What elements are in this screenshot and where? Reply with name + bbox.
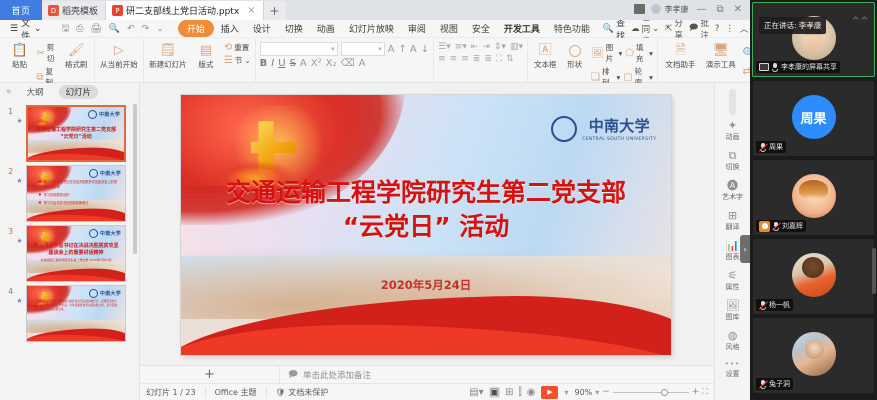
zoom-dropdown-icon[interactable]: ▾ — [595, 388, 599, 397]
slide-animation-marker: ★ — [15, 285, 24, 305]
close-window-button[interactable]: ✕ — [732, 4, 744, 15]
play-dropdown-icon[interactable]: ▾ — [564, 388, 568, 397]
collapse-pane-icon[interactable]: « — [6, 87, 12, 97]
zoom-track[interactable] — [613, 392, 689, 393]
participant-name-bar: 李孝康的屏幕共享 — [756, 61, 840, 73]
university-logo: 中南大学 — [88, 290, 121, 297]
play-from-current-button[interactable]: ▷ 从当前开始 — [99, 41, 139, 70]
participant-name: 兔子洞 — [769, 379, 790, 389]
rail-item-label: 属性 — [726, 282, 740, 292]
font-controls: ▾ ▾ A↑ A↓ B I U S A X² X₂ ⌫ A — [260, 41, 429, 69]
font-format-row: B I U S A X² X₂ ⌫ A — [260, 58, 429, 69]
participant-name-bar: 杨一帆 — [756, 299, 793, 311]
textbox-icon: 🄰 — [539, 43, 552, 58]
menu-bar: ☰ 文件 ⌄ 🖫 ⎙ 🖨 🔍 ↶ ↷ ⌄ 开始 插入 设计 切换 动画 — [0, 20, 750, 38]
slides-mini-group: ⟲ 重置 ☰ 节 ⌄ — [224, 41, 251, 66]
window-controls: 李孝康 — ⧉ ✕ — [634, 0, 750, 20]
share-label: 分享 — [674, 17, 683, 41]
list-item[interactable]: 1 ★ 中南大学 交通运输工程学院研究生第二党支部 “云党日”活动 — [0, 102, 139, 162]
thumb-bullet: 学习情景剧本创作 — [39, 193, 117, 198]
avatar: 周果 — [792, 95, 836, 139]
present-tools-button[interactable]: 🖥 演示工具 — [702, 41, 739, 70]
paste-button[interactable]: 📋 粘贴 — [6, 41, 33, 70]
tab-developer-tools[interactable]: 开发工具 — [497, 20, 547, 37]
app-mode-icon[interactable] — [634, 4, 645, 14]
tab-animation[interactable]: 动画 — [310, 20, 342, 37]
cloud-sync-icon: ☁ — [631, 24, 640, 34]
tab-design[interactable]: 设计 — [246, 20, 278, 37]
clipboard-mini-group: ✂ 剪切 ⧉ 复制 — [36, 41, 59, 88]
decrease-indent-icon[interactable]: ⇤ — [471, 42, 479, 52]
university-name: 中南大学 — [589, 115, 650, 136]
layout-icon: ▤ — [200, 43, 212, 58]
rail-item-label: 动画 — [726, 132, 740, 142]
paste-icon: 📋 — [12, 43, 28, 58]
present-tools-icon: 🖥 — [713, 43, 730, 58]
transition-icon: ⧉ — [729, 150, 737, 161]
cut-icon: ✂ — [36, 48, 44, 59]
comment-icon: 🗩 — [689, 22, 698, 36]
picture-button[interactable]: 🖼 图片▾ — [591, 42, 622, 64]
university-name-en: CENTRAL SOUTH UNIVERSITY — [582, 137, 656, 142]
bullets-icon[interactable]: ☰▾ — [438, 42, 451, 52]
rail-item-label: 图库 — [726, 312, 740, 322]
format-painter-icon: 🖌 — [68, 43, 85, 58]
search-icon: 🔍 — [603, 24, 614, 34]
reset-label: 重置 — [234, 42, 249, 53]
play-from-current-label: 从当前开始 — [100, 59, 138, 70]
reset-icon: ⟲ — [224, 42, 232, 53]
section-button[interactable]: ☰ 节 ⌄ — [224, 55, 251, 66]
avatar — [792, 253, 836, 297]
ribbon-group-slideshow: ▷ 从当前开始 — [95, 39, 144, 82]
participant-name-bar: 周果 — [756, 141, 786, 153]
format-painter-button[interactable]: 🖌 格式刷 — [63, 41, 90, 70]
document-tab-templates-label: 稻壳模板 — [62, 4, 98, 17]
gallery-icon: 🖼 — [726, 300, 740, 311]
home-tab-label: 首页 — [11, 4, 30, 17]
numbering-icon[interactable]: ≡▾ — [455, 42, 467, 52]
reset-button[interactable]: ⟲ 重置 — [224, 42, 251, 53]
video-tile[interactable]: 兔子洞 — [753, 318, 874, 393]
share-button[interactable]: ⇱ 分享 — [665, 17, 683, 41]
smartart-icon[interactable]: ⛶ — [496, 54, 502, 64]
wordart-icon: 🅐 — [727, 180, 738, 191]
rail-item-properties[interactable]: ⚟ 属性 — [716, 270, 750, 292]
section-label: 节 — [235, 55, 243, 66]
font-size-input[interactable]: ▾ — [341, 42, 385, 56]
rail-item-transition[interactable]: ⧉ 切换 — [716, 150, 750, 172]
video-tile[interactable]: 刘嘉辉 — [753, 160, 874, 235]
view-mode-buttons: ▤▾ ▣ ⊞ ⫿ ◉ — [469, 387, 535, 398]
slide-animation-marker: ★ — [15, 225, 24, 245]
thumb-title: 学习习近平总书记在决战决胜脱贫攻坚座谈会上的重要讲话精神 — [33, 243, 119, 258]
slide-number: 4 — [3, 285, 13, 296]
divider — [205, 387, 206, 398]
comment-button[interactable]: 🗩 批注 — [689, 17, 709, 41]
rail-item-label: 翻译 — [726, 222, 740, 232]
view-notes-icon[interactable]: ▤▾ — [469, 387, 483, 398]
chevron-up-icon[interactable]: ⌃⌃ — [850, 15, 868, 30]
picture-icon: 🖼 — [591, 48, 604, 59]
text-effects-icon[interactable]: A — [359, 58, 366, 69]
tab-features[interactable]: 特色功能 — [547, 20, 597, 37]
ribbon-toolbar: 📋 粘贴 ✂ 剪切 ⧉ 复制 🖌 格式刷 — [0, 38, 750, 83]
hamburger-icon: ☰ — [10, 24, 18, 34]
university-logo: 中南大学 — [88, 170, 121, 177]
slide-animation-marker: ★ — [15, 105, 24, 125]
thumb-bullet: 学习习近平总书记回信精神研讨 — [39, 201, 117, 206]
superscript-button[interactable]: X² — [311, 58, 322, 69]
home-tab[interactable]: 首页 — [0, 0, 42, 20]
justify-icon[interactable]: ≣ — [473, 54, 481, 64]
status-bar: 幻灯片 1 / 23 Office 主题 🛡 文档未保护 ▤▾ ▣ ⊞ ⫿ ◉ — [140, 383, 714, 400]
video-tile-speaker[interactable]: 正在讲话: 李孝康 ⌃⌃ 李孝康的屏幕共享 — [752, 2, 875, 77]
ribbon-group-drawing: 🄰 文本框 形状 🖼 图片▾ ⬠ 填充▾ — [528, 39, 658, 82]
wps-template-icon: D — [48, 5, 59, 16]
format-painter-label: 格式刷 — [65, 59, 88, 70]
slide-animation-marker: ★ — [15, 165, 24, 185]
csu-seal-icon — [551, 116, 577, 142]
rail-item-label: 艺术字 — [722, 192, 743, 202]
thumb-paragraph: 打赢脱贫攻坚战是全面建成小康社会必须完成的硬任务，是我们党向人民、向历史作出的庄… — [35, 300, 117, 312]
list-item[interactable]: 3 ★ 中南大学 学习习近平总书记在决战决胜脱贫攻坚座谈会上的重要讲话精神 交通… — [0, 222, 139, 282]
notes-bar: + 🗩 单击此处添加备注 — [140, 365, 714, 383]
microphone-muted-icon — [759, 380, 767, 389]
tab-view[interactable]: 视图 — [433, 20, 465, 37]
slide-number: 2 — [3, 165, 13, 176]
ribbon-group-slides: 🗒 新建幻灯片 ▤ 版式 ⟲ 重置 ☰ 节 ⌄ — [144, 39, 256, 82]
slide-canvas[interactable]: 中南大学 CENTRAL SOUTH UNIVERSITY 交通运输工程学院研究… — [140, 83, 714, 365]
participant-name: 李孝康的屏幕共享 — [781, 62, 837, 72]
slide-thumbnail-2[interactable]: 中南大学 学习习近平总书记在决战决胜脱贫攻坚座谈会上的重要讲话精神 学习情景剧本… — [26, 165, 126, 222]
rail-item-label: 设置 — [726, 369, 740, 379]
theme-label[interactable]: Office 主题 — [215, 387, 257, 398]
new-slide-button[interactable]: 🗒 新建幻灯片 — [148, 41, 188, 70]
account-name: 李孝康 — [664, 4, 688, 15]
underline-button[interactable]: U — [278, 58, 285, 69]
print-icon[interactable]: 🖨 — [90, 24, 101, 34]
party-emblem-icon — [37, 109, 58, 127]
new-slide-icon: 🗒 — [160, 43, 177, 58]
participant-name: 刘嘉辉 — [782, 221, 803, 231]
textbox-label: 文本框 — [534, 59, 557, 70]
rail-item-wordart[interactable]: 🅐 艺术字 — [716, 180, 750, 202]
participant-name-bar: 刘嘉辉 — [756, 220, 806, 232]
university-logo: 中南大学 CENTRAL SOUTH UNIVERSITY — [451, 108, 657, 150]
avatar — [792, 174, 836, 218]
outline-icon: ▢ — [623, 72, 632, 83]
tab-slides[interactable]: 幻灯片 — [59, 85, 99, 99]
shape-label: 形状 — [567, 59, 582, 70]
share-icon: ⇱ — [665, 24, 672, 34]
shape-icon — [569, 43, 581, 58]
tab-insert[interactable]: 插入 — [214, 20, 246, 37]
subscript-button[interactable]: X₂ — [326, 58, 337, 69]
rail-item-label: 风格 — [726, 342, 740, 352]
paragraph-row-2: ≡ ≡ ≡ ≣ ≣ ⛶ ⇅ — [438, 54, 523, 64]
chevron-down-icon: ⌄ — [652, 24, 659, 34]
avatar-initials: 周果 — [800, 108, 826, 127]
video-tile[interactable]: 周果 周果 — [753, 81, 874, 156]
rail-item-animation[interactable]: ✦ 动画 — [716, 120, 750, 142]
bold-button[interactable]: B — [260, 58, 268, 69]
new-tab-button[interactable]: + — [264, 1, 286, 20]
comment-label: 批注 — [700, 17, 709, 41]
protection-status[interactable]: 🛡 文档未保护 — [276, 387, 329, 398]
thumb-bullets: 学习习近平总书记在决战决胜脱贫攻坚座谈会上的重要讲话精神 学习情景剧本创作 学习… — [39, 180, 117, 208]
translate-icon: ⊞ — [728, 210, 737, 221]
save-icon[interactable]: 🖫 — [62, 21, 70, 37]
participant-name: 杨一帆 — [769, 300, 790, 310]
video-tile[interactable]: 杨一帆 — [753, 239, 874, 314]
quick-access-toolbar: 🖫 ⎙ 🖨 🔍 ↶ ↷ ⌄ — [56, 21, 170, 37]
speaking-banner: 正在讲话: 李孝康 — [759, 17, 826, 34]
tab-transition[interactable]: 切换 — [278, 20, 310, 37]
thumbnail-list[interactable]: 1 ★ 中南大学 交通运输工程学院研究生第二党支部 “云党日”活动 — [0, 100, 139, 400]
tab-outline[interactable]: 大纲 — [20, 85, 51, 99]
rail-item-translate[interactable]: ⊞ 翻译 — [716, 210, 750, 232]
align-center-icon[interactable]: ≡ — [450, 54, 458, 64]
notes-input[interactable]: 🗩 单击此处添加备注 — [280, 367, 714, 383]
protection-label: 文档未保护 — [288, 388, 328, 397]
minimize-button[interactable]: — — [694, 4, 708, 15]
play-slideshow-button[interactable]: ▶ — [541, 386, 558, 399]
avatar — [651, 4, 661, 14]
wps-office-window: 首页 D 稻壳模板 P 研二支部线上党日活动.pptx × + 李孝康 — ⧉ … — [0, 0, 750, 400]
view-normal-icon[interactable]: ▣ — [489, 387, 500, 398]
fill-label: 填充 — [636, 42, 647, 64]
divider — [266, 387, 267, 398]
fill-button[interactable]: ⬠ 填充▾ — [625, 42, 653, 64]
text-color-button[interactable]: A — [300, 58, 307, 69]
microphone-muted-icon — [759, 143, 767, 152]
fill-icon: ⬠ — [625, 48, 634, 59]
slide-number: 1 — [3, 105, 13, 116]
application-window: 首页 D 稻壳模板 P 研二支部线上党日活动.pptx × + 李孝康 — ⧉ … — [0, 0, 877, 400]
doc-assistant-button[interactable]: 🗎 文档助手 — [662, 41, 699, 70]
shape-button[interactable]: 形状 — [562, 41, 589, 70]
right-tool-rail: ✦ 动画 ⧉ 切换 🅐 艺术字 ⊞ 翻译 📊 图表 — [714, 83, 750, 400]
microphone-icon — [771, 63, 779, 72]
university-logo: 中南大学 — [88, 111, 121, 118]
copy-icon: ⧉ — [36, 72, 43, 83]
italic-button[interactable]: I — [271, 58, 274, 69]
rail-item-label: 切换 — [726, 162, 740, 172]
cut-button[interactable]: ✂ 剪切 — [36, 42, 59, 64]
rail-item-gallery[interactable]: 🖼 图库 — [716, 300, 750, 322]
view-presenter-icon[interactable]: ◉ — [527, 387, 536, 398]
paste-label: 粘贴 — [12, 59, 27, 70]
zoom-level-label: 90% — [575, 388, 593, 397]
thumb-bullet: 学习习近平总书记在决战决胜脱贫攻坚座谈会上的重要讲话精神 — [39, 180, 117, 190]
tab-slideshow[interactable]: 幻灯片放映 — [342, 20, 401, 37]
properties-icon: ⚟ — [728, 270, 738, 281]
shrink-font-icon: A — [410, 44, 417, 55]
document-tab-templates[interactable]: D 稻壳模板 — [42, 1, 106, 20]
customize-qat-icon[interactable]: ⌄ — [156, 24, 164, 34]
microphone-muted-icon — [772, 222, 780, 231]
zoom-out-button[interactable]: − — [602, 387, 610, 397]
print-scan-icon[interactable]: 🔍 — [109, 24, 120, 34]
new-slide-label: 新建幻灯片 — [149, 59, 187, 70]
restore-button[interactable]: ⧉ — [714, 4, 725, 15]
collapse-ribbon-icon[interactable]: ︿ — [740, 23, 749, 35]
animation-icon: ✦ — [728, 120, 737, 131]
document-tab-bar: 首页 D 稻壳模板 P 研二支部线上党日活动.pptx × + 李孝康 — ⧉ … — [0, 0, 750, 20]
slide-thumbnail-3[interactable]: 中南大学 学习习近平总书记在决战决胜脱贫攻坚座谈会上的重要讲话精神 交通运输工程… — [26, 225, 126, 282]
tab-review[interactable]: 审阅 — [401, 20, 433, 37]
account-area[interactable]: 李孝康 — [651, 4, 688, 15]
arrange-icon: ❏ — [591, 72, 600, 83]
rail-item-label: 图表 — [726, 252, 740, 262]
slide-thumbnail-pane: « 大纲 幻灯片 1 ★ 中南大学 — [0, 83, 140, 400]
distribute-icon[interactable]: ≣ — [484, 54, 492, 64]
chevron-down-icon: ⌄ — [34, 24, 42, 34]
help-button[interactable]: ? — [715, 24, 720, 34]
view-sorter-icon[interactable]: ⊞ — [505, 387, 513, 398]
slide-title: 交通运输工程学院研究生第二党支部 “云党日” 活动 — [210, 176, 641, 245]
thumbnail-pane-header: « 大纲 幻灯片 — [0, 83, 139, 100]
rail-scroll-handle[interactable] — [729, 89, 736, 115]
font-row: ▾ ▾ A↑ A↓ — [260, 42, 429, 56]
layout-label: 版式 — [198, 59, 213, 70]
section-icon: ☰ — [224, 55, 233, 66]
clear-format-icon[interactable]: ⌫ — [340, 58, 354, 69]
align-left-icon[interactable]: ≡ — [438, 54, 446, 64]
textbox-button[interactable]: 🄰 文本框 — [532, 41, 559, 70]
grow-font-icon: A — [388, 44, 395, 55]
chevron-down-icon: ⌄ — [244, 56, 250, 65]
print-preview-icon[interactable]: ⎙ — [76, 24, 83, 34]
cut-label: 剪切 — [47, 42, 60, 64]
slide-thumbnail-1[interactable]: 中南大学 交通运输工程学院研究生第二党支部 “云党日”活动 — [26, 105, 126, 162]
editor-body: « 大纲 幻灯片 1 ★ 中南大学 — [0, 83, 750, 400]
expand-rail-button[interactable]: › — [740, 235, 750, 263]
list-item[interactable]: 4 ★ 中南大学 打赢脱贫攻坚战是全面建成小康社会必须完成的硬任务，是我们党向人… — [0, 282, 139, 342]
microphone-muted-icon — [759, 301, 767, 310]
rail-item-settings[interactable]: ••• 设置 — [716, 360, 750, 379]
shrink-font-button[interactable]: A↓ — [410, 44, 429, 55]
fit-to-window-button[interactable]: ⛶ — [702, 387, 708, 397]
participant-list-scrollbar[interactable] — [872, 248, 876, 294]
thumb-subtitle: 交通运输工程学院研究生第二党支部 2020年5月24日 — [37, 258, 115, 263]
rail-item-style[interactable]: ◍ 风格 — [716, 330, 750, 352]
view-reading-icon[interactable]: ⫿ — [519, 387, 522, 398]
doc-assistant-icon: 🗎 — [675, 43, 685, 58]
tab-security[interactable]: 安全 — [465, 20, 497, 37]
ribbon-group-clipboard: 📋 粘贴 ✂ 剪切 ⧉ 复制 🖌 格式刷 — [2, 39, 95, 82]
pptx-file-icon: P — [112, 5, 123, 16]
notes-icon: 🗩 — [288, 367, 298, 383]
zoom-video-panel: 正在讲话: 李孝康 ⌃⌃ 李孝康的屏幕共享 周果 周果 刘嘉辉 — [750, 0, 877, 400]
participant-name-bar: 兔子洞 — [756, 378, 793, 390]
picture-label: 图片 — [606, 42, 617, 64]
zoom-slider[interactable]: 90% ▾ − + ⛶ — [575, 387, 709, 397]
host-badge-icon — [759, 221, 770, 232]
close-tab-icon[interactable]: × — [247, 5, 255, 16]
more-options-icon[interactable]: ⋮ — [725, 24, 734, 34]
align-right-icon[interactable]: ≡ — [461, 54, 469, 64]
chart-icon: 📊 — [726, 240, 740, 251]
text-direction-icon[interactable]: ⇅ — [506, 54, 514, 64]
paragraph-row-1: ☰▾ ≡▾ ⇤ ⇥ ⇕▾ ▥▾ — [438, 42, 523, 52]
play-from-current-icon: ▷ — [114, 43, 124, 58]
layout-button[interactable]: ▤ 版式 — [191, 41, 221, 70]
tab-start[interactable]: 开始 — [178, 20, 214, 37]
thumbnail-scrollbar[interactable] — [133, 104, 137, 254]
slide-number: 3 — [3, 225, 13, 236]
slide-title-line2: “云党日” 活动 — [210, 210, 641, 245]
undo-icon[interactable]: ↶ — [127, 24, 135, 34]
document-tab-pptx-label: 研二支部线上党日活动.pptx — [126, 4, 239, 17]
grow-font-button[interactable]: A↑ — [388, 44, 407, 55]
screen-share-icon — [759, 63, 769, 71]
zoom-knob[interactable] — [661, 389, 668, 396]
line-spacing-icon[interactable]: ⇕▾ — [494, 42, 506, 52]
notes-placeholder: 单击此处添加备注 — [303, 369, 371, 381]
slide-count-label: 幻灯片 1 / 23 — [146, 387, 196, 398]
present-tools-label: 演示工具 — [706, 59, 736, 70]
slide-date: 2020年5月24日 — [181, 277, 671, 293]
settings-icon: ••• — [725, 360, 740, 368]
participant-name: 周果 — [769, 142, 783, 152]
thumb-title: 交通运输工程学院研究生第二党支部 “云党日”活动 — [34, 127, 119, 142]
status-bar-right: ▤▾ ▣ ⊞ ⫿ ◉ ▶ ▾ 90% ▾ − — [469, 386, 708, 399]
columns-icon[interactable]: ▥▾ — [510, 42, 523, 52]
slide-title-line1: 交通运输工程学院研究生第二党支部 — [210, 176, 641, 211]
drawing-mini-group: 🖼 图片▾ ⬠ 填充▾ ❏ 排列▾ — [591, 41, 653, 88]
zoom-in-button[interactable]: + — [692, 387, 700, 397]
university-logo: 中南大学 — [88, 230, 121, 237]
increase-indent-icon[interactable]: ⇥ — [482, 42, 490, 52]
current-slide[interactable]: 中南大学 CENTRAL SOUTH UNIVERSITY 交通运输工程学院研究… — [181, 95, 671, 355]
add-slide-button[interactable]: + — [140, 366, 280, 383]
ribbon-group-paragraph: ☰▾ ≡▾ ⇤ ⇥ ⇕▾ ▥▾ ≡ ≡ ≡ ≣ ≣ ⛶ ⇅ — [434, 39, 528, 82]
redo-icon[interactable]: ↷ — [142, 24, 150, 34]
paragraph-controls: ☰▾ ≡▾ ⇤ ⇥ ⇕▾ ▥▾ ≡ ≡ ≡ ≣ ≣ ⛶ ⇅ — [438, 41, 523, 64]
style-icon: ◍ — [728, 330, 738, 341]
slide-thumbnail-4[interactable]: 中南大学 打赢脱贫攻坚战是全面建成小康社会必须完成的硬任务，是我们党向人民、向历… — [26, 285, 126, 342]
strikethrough-button[interactable]: S — [290, 58, 296, 69]
document-tab-pptx[interactable]: P 研二支部线上党日活动.pptx × — [106, 1, 264, 20]
slide-canvas-pane: 中南大学 CENTRAL SOUTH UNIVERSITY 交通运输工程学院研究… — [140, 83, 714, 400]
doc-assistant-label: 文档助手 — [666, 59, 696, 70]
avatar — [792, 332, 836, 376]
ribbon-group-font: ▾ ▾ A↑ A↓ B I U S A X² X₂ ⌫ A — [256, 39, 434, 82]
list-item[interactable]: 2 ★ 中南大学 学习习近平总书记在决战决胜脱贫攻坚座谈会上的重要讲话精神 学习 — [0, 162, 139, 222]
font-name-input[interactable]: ▾ — [260, 42, 338, 56]
